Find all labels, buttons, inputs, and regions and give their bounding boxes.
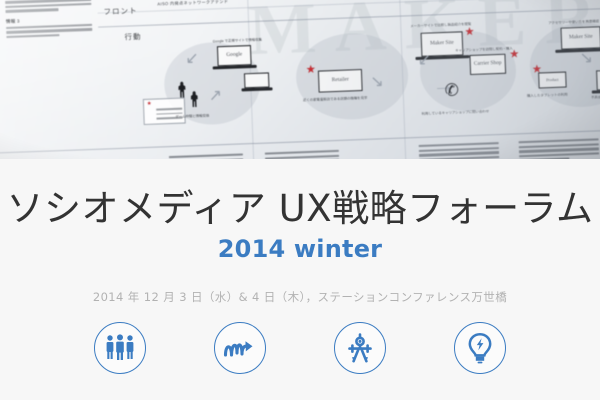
device-retailer: Retailer [318,69,363,93]
screenshot-root: MAKER SITE AISO 内発点ネットワークアテンド コーポレートコミュニ… [0,0,600,400]
journey-map-poster: MAKER SITE AISO 内発点ネットワークアテンド コーポレートコミュニ… [0,0,600,159]
poster-column-heading: AISO 内発点ネットワークアテンド [157,0,228,7]
device-maker-site: Maker Site [560,26,600,49]
poster-cell-text [265,150,340,159]
star-icon: ★ [464,27,474,38]
star-icon: ★ [306,65,316,76]
poster-sidebar: 「タブレットが欲しい」 情報 1 情報 2 情報 3 [2,0,92,40]
device-carrier-shop: Carrier Shop [469,54,506,75]
hero-photo: MAKER SITE AISO 内発点ネットワークアテンド コーポレートコミュニ… [0,0,600,159]
arrow-icon: ↙ [185,51,199,67]
device-product: Product [538,72,567,89]
poster-legend: ★ [143,98,186,125]
arrow-icon: ↙ [417,52,431,68]
phone-icon: ✆ [444,81,459,99]
device-google: Google [596,69,600,90]
poster-row-label-action: 行動 [124,31,141,43]
poster-cell-text [419,142,500,159]
compass-divider-icon [334,322,386,374]
poster-row-label-front: フロント [103,5,137,17]
poster-sidebar-text [5,0,92,13]
legend-star-icon: ★ [147,101,181,107]
lightbulb-idea-icon [454,322,506,374]
arrow-icon: ↘ [370,74,384,90]
star-icon: ★ [532,64,542,75]
poster-sidebar-text [6,24,92,39]
page-title: ソシオメディア UX戦略フォーラム [0,188,600,229]
arrow-icon: ↗ [208,88,222,104]
device-laptop [244,72,270,88]
event-date-venue: 2014 年 12 月 3 日（水）& 4 日（木），ステーションコンファレンス… [0,289,600,305]
journey-caption: 利用しているキャリアショップに問い合わせ [421,108,489,115]
page-subtitle: 2014 winter [0,235,600,263]
arrow-icon: ↘ [579,51,593,67]
wave-arrow-icon [214,322,266,374]
feature-icon-row [0,322,600,374]
star-icon: ★ [509,49,519,60]
poster-cell-text [519,138,600,159]
journey-caption: 不具合でググって検索 [591,93,600,99]
poster-rule [0,128,600,153]
three-people-icon [94,322,146,374]
title-panel: ソシオメディア UX戦略フォーラム 2014 winter 2014 年 12 … [0,159,600,400]
device-google: Google [217,45,252,66]
